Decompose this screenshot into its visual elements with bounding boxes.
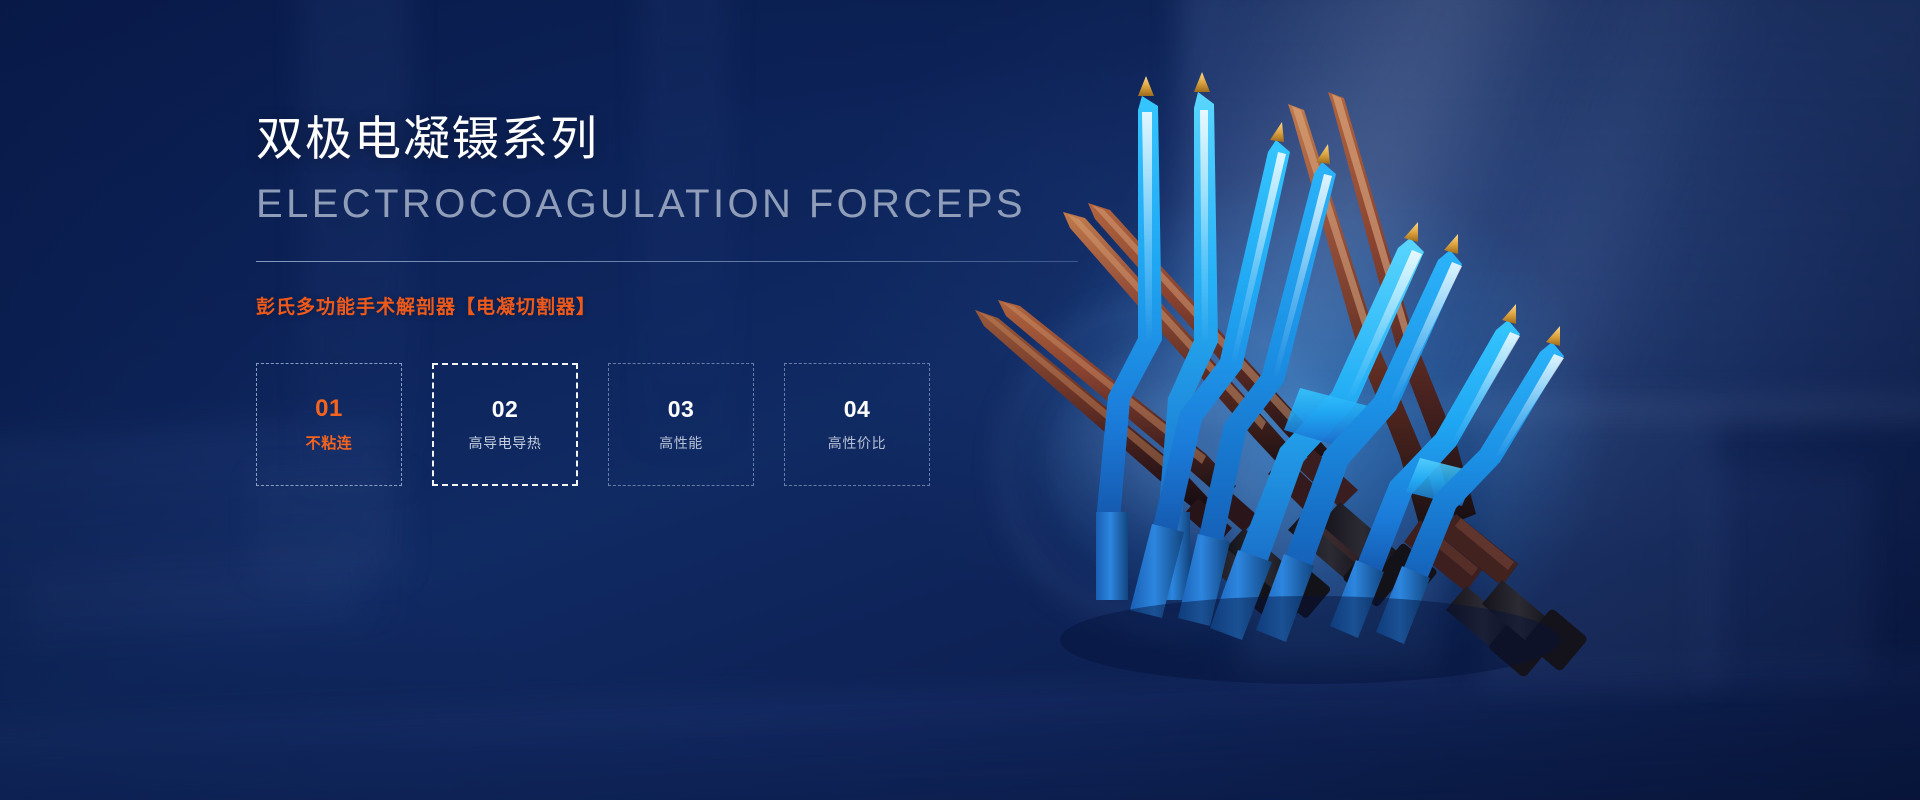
feature-number: 04 bbox=[844, 398, 871, 421]
feature-label: 高性能 bbox=[659, 436, 703, 450]
feature-card-02[interactable]: 02 高导电导热 bbox=[432, 363, 578, 486]
feature-number: 03 bbox=[668, 398, 695, 421]
page-title-cn: 双极电凝镊系列 bbox=[256, 110, 1116, 169]
feature-label: 高导电导热 bbox=[469, 436, 542, 450]
page-title-en: ELECTROCOAGULATION FORCEPS bbox=[256, 181, 1116, 227]
banner-content: 双极电凝镊系列 ELECTROCOAGULATION FORCEPS 彭氏多功能… bbox=[256, 110, 1116, 486]
product-banner: 双极电凝镊系列 ELECTROCOAGULATION FORCEPS 彭氏多功能… bbox=[0, 0, 1920, 800]
product-subtitle: 彭氏多功能手术解剖器【电凝切割器】 bbox=[256, 292, 1116, 319]
feature-label: 高性价比 bbox=[828, 436, 886, 450]
feature-list: 01 不粘连 02 高导电导热 03 高性能 04 高性价比 bbox=[256, 363, 1116, 486]
feature-label: 不粘连 bbox=[306, 436, 353, 451]
feature-number: 02 bbox=[492, 398, 519, 421]
title-divider bbox=[256, 261, 1078, 262]
feature-number: 01 bbox=[315, 397, 343, 421]
feature-card-01[interactable]: 01 不粘连 bbox=[256, 363, 402, 486]
feature-card-03[interactable]: 03 高性能 bbox=[608, 363, 754, 486]
feature-card-04[interactable]: 04 高性价比 bbox=[784, 363, 930, 486]
